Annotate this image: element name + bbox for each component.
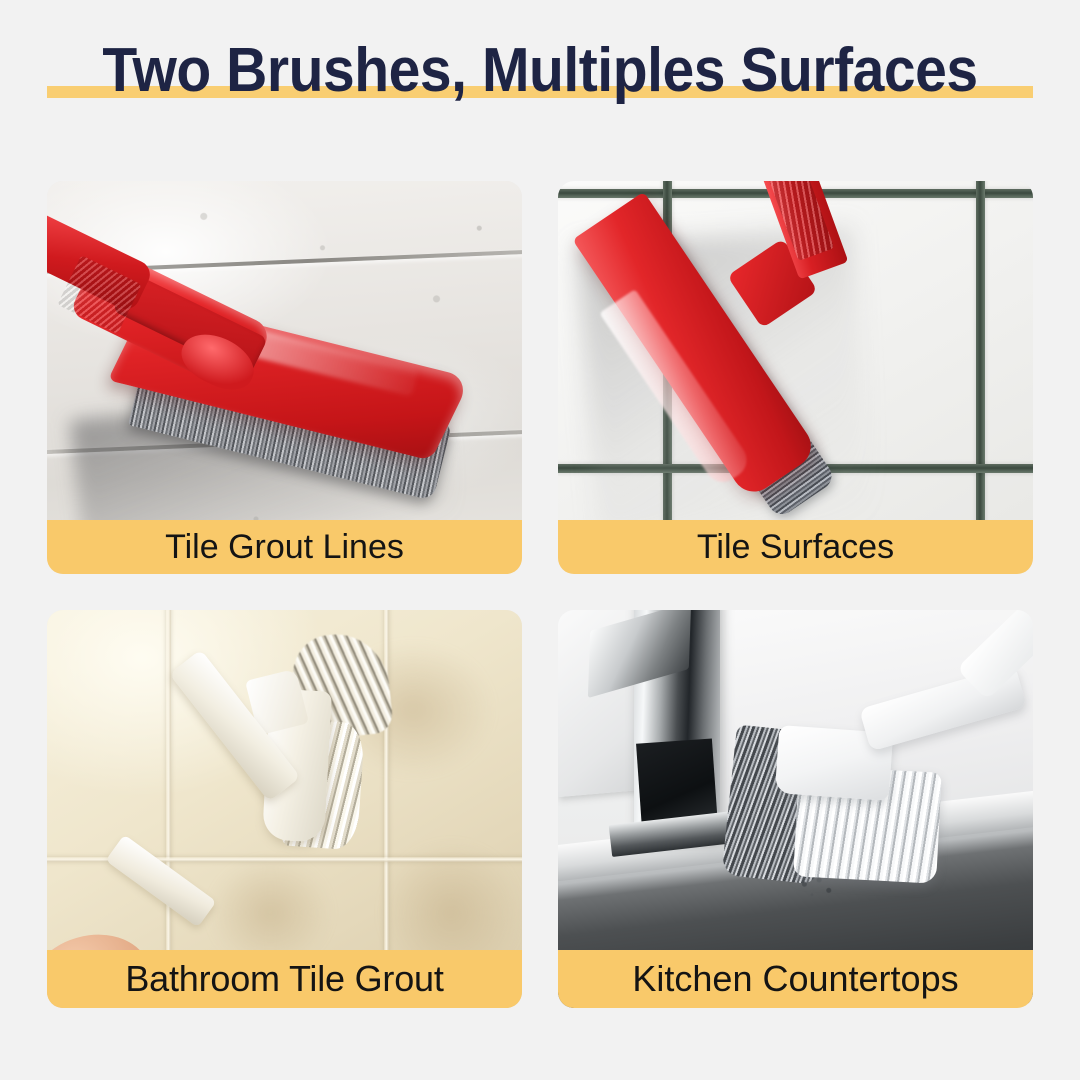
caption-label: Kitchen Countertops bbox=[632, 961, 958, 997]
caption-bar: Tile Surfaces bbox=[558, 520, 1033, 574]
caption-label: Bathroom Tile Grout bbox=[125, 961, 443, 997]
card-tile-grout-lines: Tile Grout Lines bbox=[47, 181, 522, 574]
surface-cards-grid: Tile Grout Lines Tile Surfaces bbox=[47, 181, 1033, 1008]
white-brush-on-kitchen-countertop-faucet-photo bbox=[558, 610, 1033, 1008]
white-brush-on-beige-bathroom-tile-photo bbox=[47, 610, 522, 1008]
red-brush-on-white-stone-tile-grout-photo bbox=[47, 181, 522, 574]
red-brush-on-white-tile-green-grout-photo bbox=[558, 181, 1033, 574]
card-kitchen-countertops: Kitchen Countertops bbox=[558, 610, 1033, 1008]
green-grout-vertical-right bbox=[976, 181, 985, 574]
caption-bar: Kitchen Countertops bbox=[558, 950, 1033, 1008]
caption-label: Tile Grout Lines bbox=[165, 530, 404, 564]
scrubbed-debris bbox=[796, 873, 839, 901]
title-block: Two Brushes, Multiples Surfaces bbox=[47, 38, 1033, 108]
page-header: Two Brushes, Multiples Surfaces bbox=[0, 0, 1080, 160]
tile-grout-vertical-left bbox=[166, 610, 171, 1008]
caption-bar: Bathroom Tile Grout bbox=[47, 950, 522, 1008]
card-bathroom-tile-grout: Bathroom Tile Grout bbox=[47, 610, 522, 1008]
caption-label: Tile Surfaces bbox=[697, 530, 894, 564]
page-title: Two Brushes, Multiples Surfaces bbox=[86, 38, 993, 104]
caption-bar: Tile Grout Lines bbox=[47, 520, 522, 574]
card-tile-surfaces: Tile Surfaces bbox=[558, 181, 1033, 574]
